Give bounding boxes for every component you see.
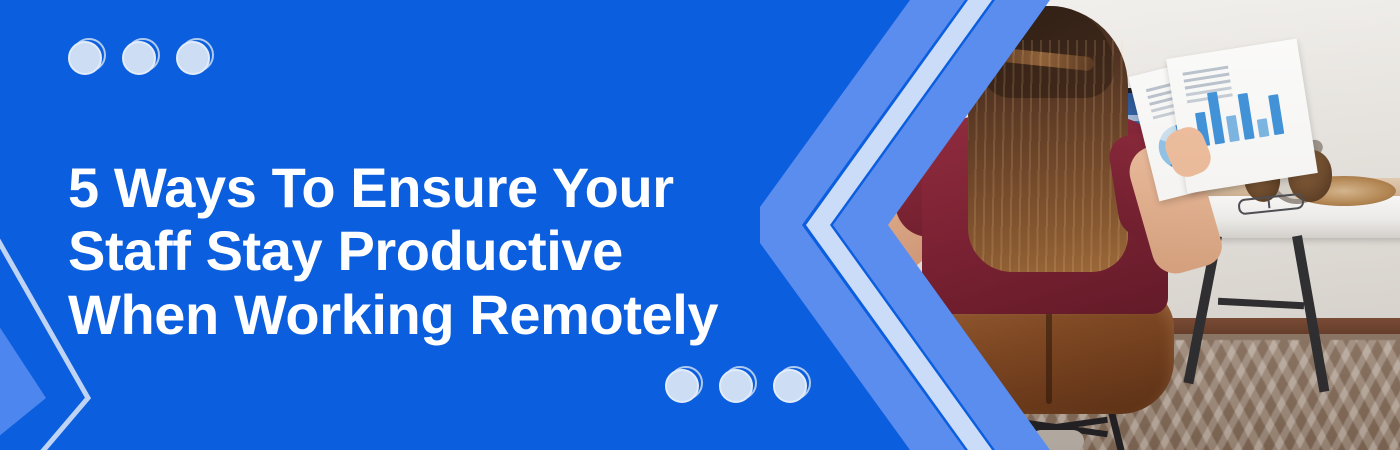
report-text-lines (1183, 66, 1229, 76)
dot-fill-icon (122, 41, 156, 75)
banner-headline: 5 Ways To Ensure Your Staff Stay Product… (68, 156, 788, 347)
three-dot-cluster-top (68, 40, 214, 78)
dot-fill-icon (68, 41, 102, 75)
dot-icon (122, 40, 160, 78)
dot-fill-icon (719, 369, 753, 403)
dot-icon (176, 40, 214, 78)
blog-header-banner: 5 Ways To Ensure Your Staff Stay Product… (0, 0, 1400, 450)
hero-photo (840, 0, 1400, 450)
shoe (1030, 430, 1084, 450)
dot-icon (773, 368, 811, 406)
dot-fill-icon (665, 369, 699, 403)
left-chevron-filled (0, 300, 46, 450)
headline-line-3: When Working Remotely (68, 283, 788, 347)
photo-scene (840, 0, 1400, 450)
dot-icon (719, 368, 757, 406)
dot-fill-icon (176, 41, 210, 75)
dot-icon (68, 40, 106, 78)
dot-fill-icon (773, 369, 807, 403)
bar-chart (1189, 76, 1289, 148)
three-dot-cluster-bottom (665, 368, 811, 406)
hair-strand-texture (968, 40, 1128, 272)
headline-line-1: 5 Ways To Ensure Your (68, 156, 788, 220)
dot-icon (665, 368, 703, 406)
headline-line-2: Staff Stay Productive (68, 219, 788, 283)
